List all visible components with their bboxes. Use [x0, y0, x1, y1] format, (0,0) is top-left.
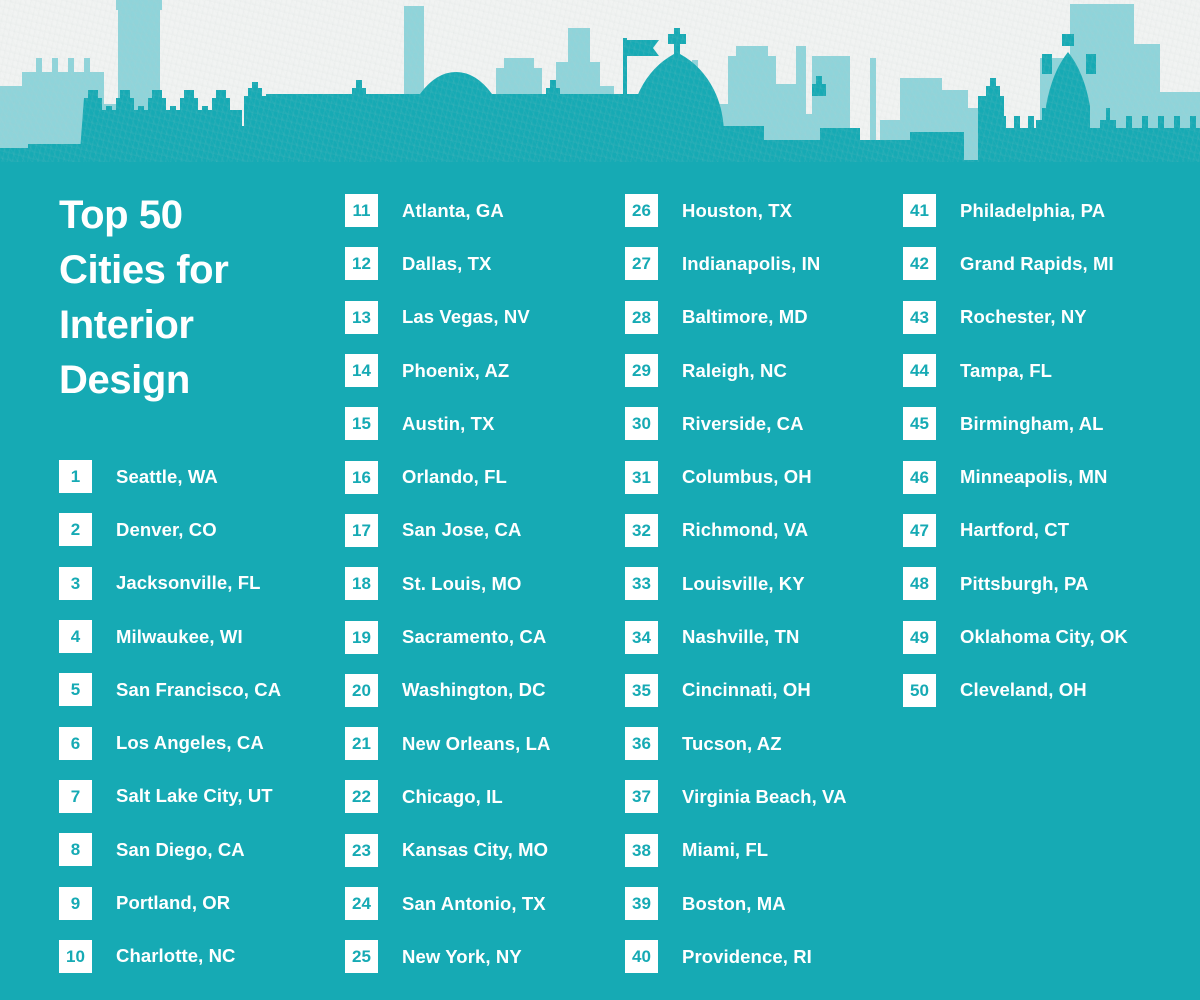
list-item[interactable]: 15Austin, TX [345, 397, 551, 450]
city-label: New Orleans, LA [402, 733, 551, 755]
list-item[interactable]: 17San Jose, CA [345, 504, 551, 557]
list-item[interactable]: 48Pittsburgh, PA [903, 557, 1128, 610]
list-item[interactable]: 8San Diego, CA [59, 823, 281, 876]
ranking-column-ranks-41-50: 41Philadelphia, PA42Grand Rapids, MI43Ro… [903, 184, 1128, 717]
rank-badge: 23 [345, 834, 378, 867]
rank-badge: 9 [59, 887, 92, 920]
city-label: Cincinnati, OH [682, 679, 811, 701]
rank-badge: 1 [59, 460, 92, 493]
list-item[interactable]: 19Sacramento, CA [345, 610, 551, 663]
rank-badge: 2 [59, 513, 92, 546]
rank-badge: 5 [59, 673, 92, 706]
ranking-column-ranks-11-25: 11Atlanta, GA12Dallas, TX13Las Vegas, NV… [345, 184, 551, 983]
list-item[interactable]: 6Los Angeles, CA [59, 716, 281, 769]
city-label: Denver, CO [116, 519, 217, 541]
city-label: Rochester, NY [960, 306, 1087, 328]
city-label: San Jose, CA [402, 519, 521, 541]
city-label: Jacksonville, FL [116, 572, 261, 594]
city-label: Charlotte, NC [116, 945, 236, 967]
city-label: Orlando, FL [402, 466, 507, 488]
rank-badge: 13 [345, 301, 378, 334]
rank-badge: 22 [345, 780, 378, 813]
list-item[interactable]: 43Rochester, NY [903, 291, 1128, 344]
city-label: Austin, TX [402, 413, 494, 435]
skyline-front-layer [0, 28, 1200, 180]
rank-badge: 21 [345, 727, 378, 760]
city-label: Cleveland, OH [960, 679, 1087, 701]
list-item[interactable]: 37Virginia Beach, VA [625, 770, 847, 823]
city-label: Columbus, OH [682, 466, 812, 488]
city-label: Milwaukee, WI [116, 626, 243, 648]
rank-badge: 15 [345, 407, 378, 440]
city-label: Raleigh, NC [682, 360, 787, 382]
city-label: Virginia Beach, VA [682, 786, 847, 808]
city-label: San Francisco, CA [116, 679, 281, 701]
skyline-illustration [0, 0, 1200, 180]
city-label: Kansas City, MO [402, 839, 548, 861]
list-item[interactable]: 41Philadelphia, PA [903, 184, 1128, 237]
list-item[interactable]: 22Chicago, IL [345, 770, 551, 823]
list-item[interactable]: 21New Orleans, LA [345, 717, 551, 770]
city-label: Providence, RI [682, 946, 812, 968]
ranking-column-ranks-1-10: 1Seattle, WA2Denver, CO3Jacksonville, FL… [59, 450, 281, 983]
city-label: Miami, FL [682, 839, 768, 861]
city-label: Pittsburgh, PA [960, 573, 1089, 595]
rank-badge: 4 [59, 620, 92, 653]
list-item[interactable]: 4Milwaukee, WI [59, 610, 281, 663]
list-item[interactable]: 44Tampa, FL [903, 344, 1128, 397]
rank-badge: 29 [625, 354, 658, 387]
list-item[interactable]: 25New York, NY [345, 930, 551, 983]
list-item[interactable]: 12Dallas, TX [345, 237, 551, 290]
city-label: St. Louis, MO [402, 573, 522, 595]
rank-badge: 43 [903, 301, 936, 334]
list-item[interactable]: 10Charlotte, NC [59, 930, 281, 983]
list-item[interactable]: 20Washington, DC [345, 664, 551, 717]
rank-badge: 20 [345, 674, 378, 707]
list-item[interactable]: 45Birmingham, AL [903, 397, 1128, 450]
city-label: Nashville, TN [682, 626, 799, 648]
rank-badge: 7 [59, 780, 92, 813]
list-item[interactable]: 27Indianapolis, IN [625, 237, 847, 290]
city-label: Seattle, WA [116, 466, 218, 488]
city-label: Portland, OR [116, 892, 230, 914]
banner-bottom-fade [0, 162, 1200, 180]
rank-badge: 44 [903, 354, 936, 387]
city-label: Baltimore, MD [682, 306, 808, 328]
rank-badge: 33 [625, 567, 658, 600]
list-item[interactable]: 49Oklahoma City, OK [903, 610, 1128, 663]
rank-badge: 40 [625, 940, 658, 973]
ranking-column-ranks-26-40: 26Houston, TX27Indianapolis, IN28Baltimo… [625, 184, 847, 983]
rank-badge: 30 [625, 407, 658, 440]
rank-badge: 10 [59, 940, 92, 973]
rank-badge: 49 [903, 621, 936, 654]
list-item[interactable]: 5San Francisco, CA [59, 663, 281, 716]
city-label: Las Vegas, NV [402, 306, 530, 328]
list-item[interactable]: 46Minneapolis, MN [903, 450, 1128, 503]
city-label: Birmingham, AL [960, 413, 1104, 435]
rank-badge: 25 [345, 940, 378, 973]
rank-badge: 35 [625, 674, 658, 707]
list-item[interactable]: 3Jacksonville, FL [59, 557, 281, 610]
rank-badge: 12 [345, 247, 378, 280]
city-label: Washington, DC [402, 679, 546, 701]
list-item[interactable]: 50Cleveland, OH [903, 664, 1128, 717]
list-item[interactable]: 16Orlando, FL [345, 450, 551, 503]
rank-badge: 26 [625, 194, 658, 227]
list-item[interactable]: 7Salt Lake City, UT [59, 770, 281, 823]
rank-badge: 28 [625, 301, 658, 334]
rank-badge: 14 [345, 354, 378, 387]
rank-badge: 46 [903, 461, 936, 494]
list-item[interactable]: 39Boston, MA [625, 877, 847, 930]
rank-badge: 24 [345, 887, 378, 920]
city-label: Tampa, FL [960, 360, 1052, 382]
city-label: Dallas, TX [402, 253, 491, 275]
city-label: Indianapolis, IN [682, 253, 820, 275]
list-item[interactable]: 47Hartford, CT [903, 504, 1128, 557]
rank-badge: 17 [345, 514, 378, 547]
rank-badge: 39 [625, 887, 658, 920]
list-item[interactable]: 9Portland, OR [59, 876, 281, 929]
list-item[interactable]: 23Kansas City, MO [345, 824, 551, 877]
list-item[interactable]: 13Las Vegas, NV [345, 291, 551, 344]
list-item[interactable]: 33Louisville, KY [625, 557, 847, 610]
city-label: Hartford, CT [960, 519, 1069, 541]
list-item[interactable]: 34Nashville, TN [625, 610, 847, 663]
rank-badge: 47 [903, 514, 936, 547]
rank-badge: 3 [59, 567, 92, 600]
rank-badge: 34 [625, 621, 658, 654]
rank-badge: 11 [345, 194, 378, 227]
list-item[interactable]: 29Raleigh, NC [625, 344, 847, 397]
rank-badge: 48 [903, 567, 936, 600]
city-label: Atlanta, GA [402, 200, 504, 222]
rank-badge: 19 [345, 621, 378, 654]
rank-badge: 16 [345, 461, 378, 494]
rank-badge: 31 [625, 461, 658, 494]
rank-badge: 50 [903, 674, 936, 707]
city-skyline-banner [0, 0, 1200, 180]
city-label: Salt Lake City, UT [116, 785, 273, 807]
city-label: Minneapolis, MN [960, 466, 1107, 488]
rank-badge: 6 [59, 727, 92, 760]
city-label: Riverside, CA [682, 413, 804, 435]
list-item[interactable]: 38Miami, FL [625, 824, 847, 877]
city-label: Tucson, AZ [682, 733, 782, 755]
list-item[interactable]: 32Richmond, VA [625, 504, 847, 557]
city-label: Boston, MA [682, 893, 786, 915]
city-label: San Antonio, TX [402, 893, 546, 915]
page-title: Top 50 Cities for Interior Design [59, 188, 329, 408]
list-item[interactable]: 35Cincinnati, OH [625, 664, 847, 717]
city-label: Los Angeles, CA [116, 732, 264, 754]
list-item[interactable]: 36Tucson, AZ [625, 717, 847, 770]
city-label: San Diego, CA [116, 839, 245, 861]
city-label: Philadelphia, PA [960, 200, 1105, 222]
rank-badge: 42 [903, 247, 936, 280]
city-label: Richmond, VA [682, 519, 808, 541]
city-label: Chicago, IL [402, 786, 503, 808]
city-label: New York, NY [402, 946, 522, 968]
list-item[interactable]: 1Seattle, WA [59, 450, 281, 503]
list-item[interactable]: 18St. Louis, MO [345, 557, 551, 610]
list-item[interactable]: 14Phoenix, AZ [345, 344, 551, 397]
list-item[interactable]: 28Baltimore, MD [625, 291, 847, 344]
rank-badge: 41 [903, 194, 936, 227]
city-label: Oklahoma City, OK [960, 626, 1128, 648]
list-item[interactable]: 24San Antonio, TX [345, 877, 551, 930]
city-label: Phoenix, AZ [402, 360, 509, 382]
infographic-poster: Top 50 Cities for Interior Design 1Seatt… [0, 0, 1200, 1000]
city-label: Louisville, KY [682, 573, 805, 595]
list-item[interactable]: 31Columbus, OH [625, 450, 847, 503]
rank-badge: 18 [345, 567, 378, 600]
list-item[interactable]: 26Houston, TX [625, 184, 847, 237]
rank-badge: 45 [903, 407, 936, 440]
rank-badge: 8 [59, 833, 92, 866]
list-item[interactable]: 2Denver, CO [59, 503, 281, 556]
list-item[interactable]: 11Atlanta, GA [345, 184, 551, 237]
city-label: Grand Rapids, MI [960, 253, 1114, 275]
rank-badge: 38 [625, 834, 658, 867]
rank-badge: 36 [625, 727, 658, 760]
rank-badge: 32 [625, 514, 658, 547]
city-label: Houston, TX [682, 200, 792, 222]
city-label: Sacramento, CA [402, 626, 546, 648]
rank-badge: 37 [625, 780, 658, 813]
list-item[interactable]: 42Grand Rapids, MI [903, 237, 1128, 290]
list-item[interactable]: 30Riverside, CA [625, 397, 847, 450]
rank-badge: 27 [625, 247, 658, 280]
list-item[interactable]: 40Providence, RI [625, 930, 847, 983]
